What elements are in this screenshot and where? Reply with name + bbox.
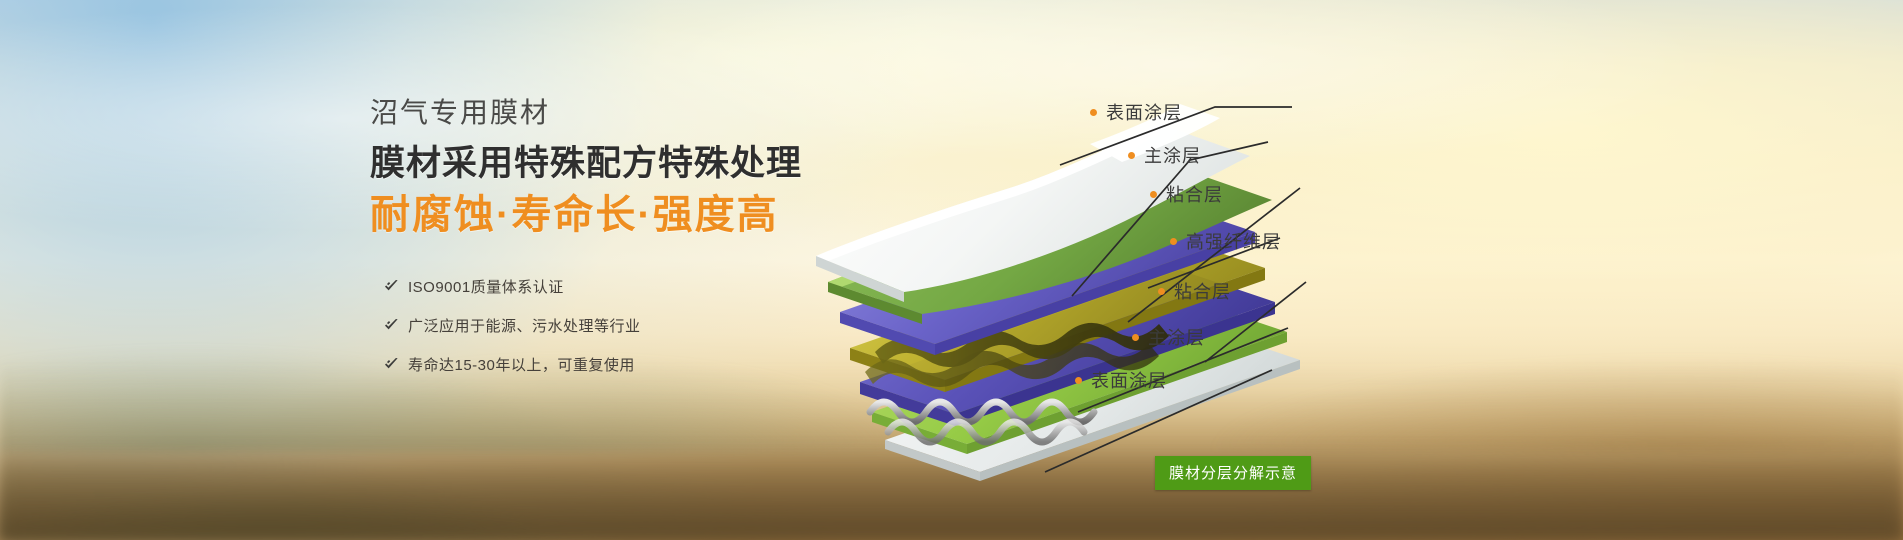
diagram-caption-badge: 膜材分层分解示意: [1155, 456, 1311, 490]
callout-label-fiber: 高强纤维层: [1186, 228, 1281, 254]
callout-dot: [1128, 152, 1135, 159]
callout-dot: [1132, 334, 1139, 341]
promo-banner: 沼气专用膜材 膜材采用特殊配方特殊处理 耐腐蚀·寿命长·强度高 ISO9001质…: [0, 0, 1903, 540]
callout-dot: [1150, 191, 1157, 198]
callout-label-surface-coating-bottom: 表面涂层: [1091, 367, 1167, 393]
callout-label-main-coating-top: 主涂层: [1144, 142, 1201, 168]
callout-labels: 表面涂层 主涂层 粘合层 高强纤维层 粘合层 主涂层 表面涂层: [0, 0, 1903, 540]
callout-dot: [1158, 288, 1165, 295]
callout-dot: [1090, 109, 1097, 116]
callout-label-surface-coating-top: 表面涂层: [1106, 99, 1182, 125]
callout-label-adhesive-top: 粘合层: [1166, 181, 1223, 207]
callout-dot: [1075, 377, 1082, 384]
callout-dot: [1170, 238, 1177, 245]
callout-label-adhesive-bottom: 粘合层: [1174, 278, 1231, 304]
callout-label-main-coating-bottom: 主涂层: [1148, 324, 1205, 350]
